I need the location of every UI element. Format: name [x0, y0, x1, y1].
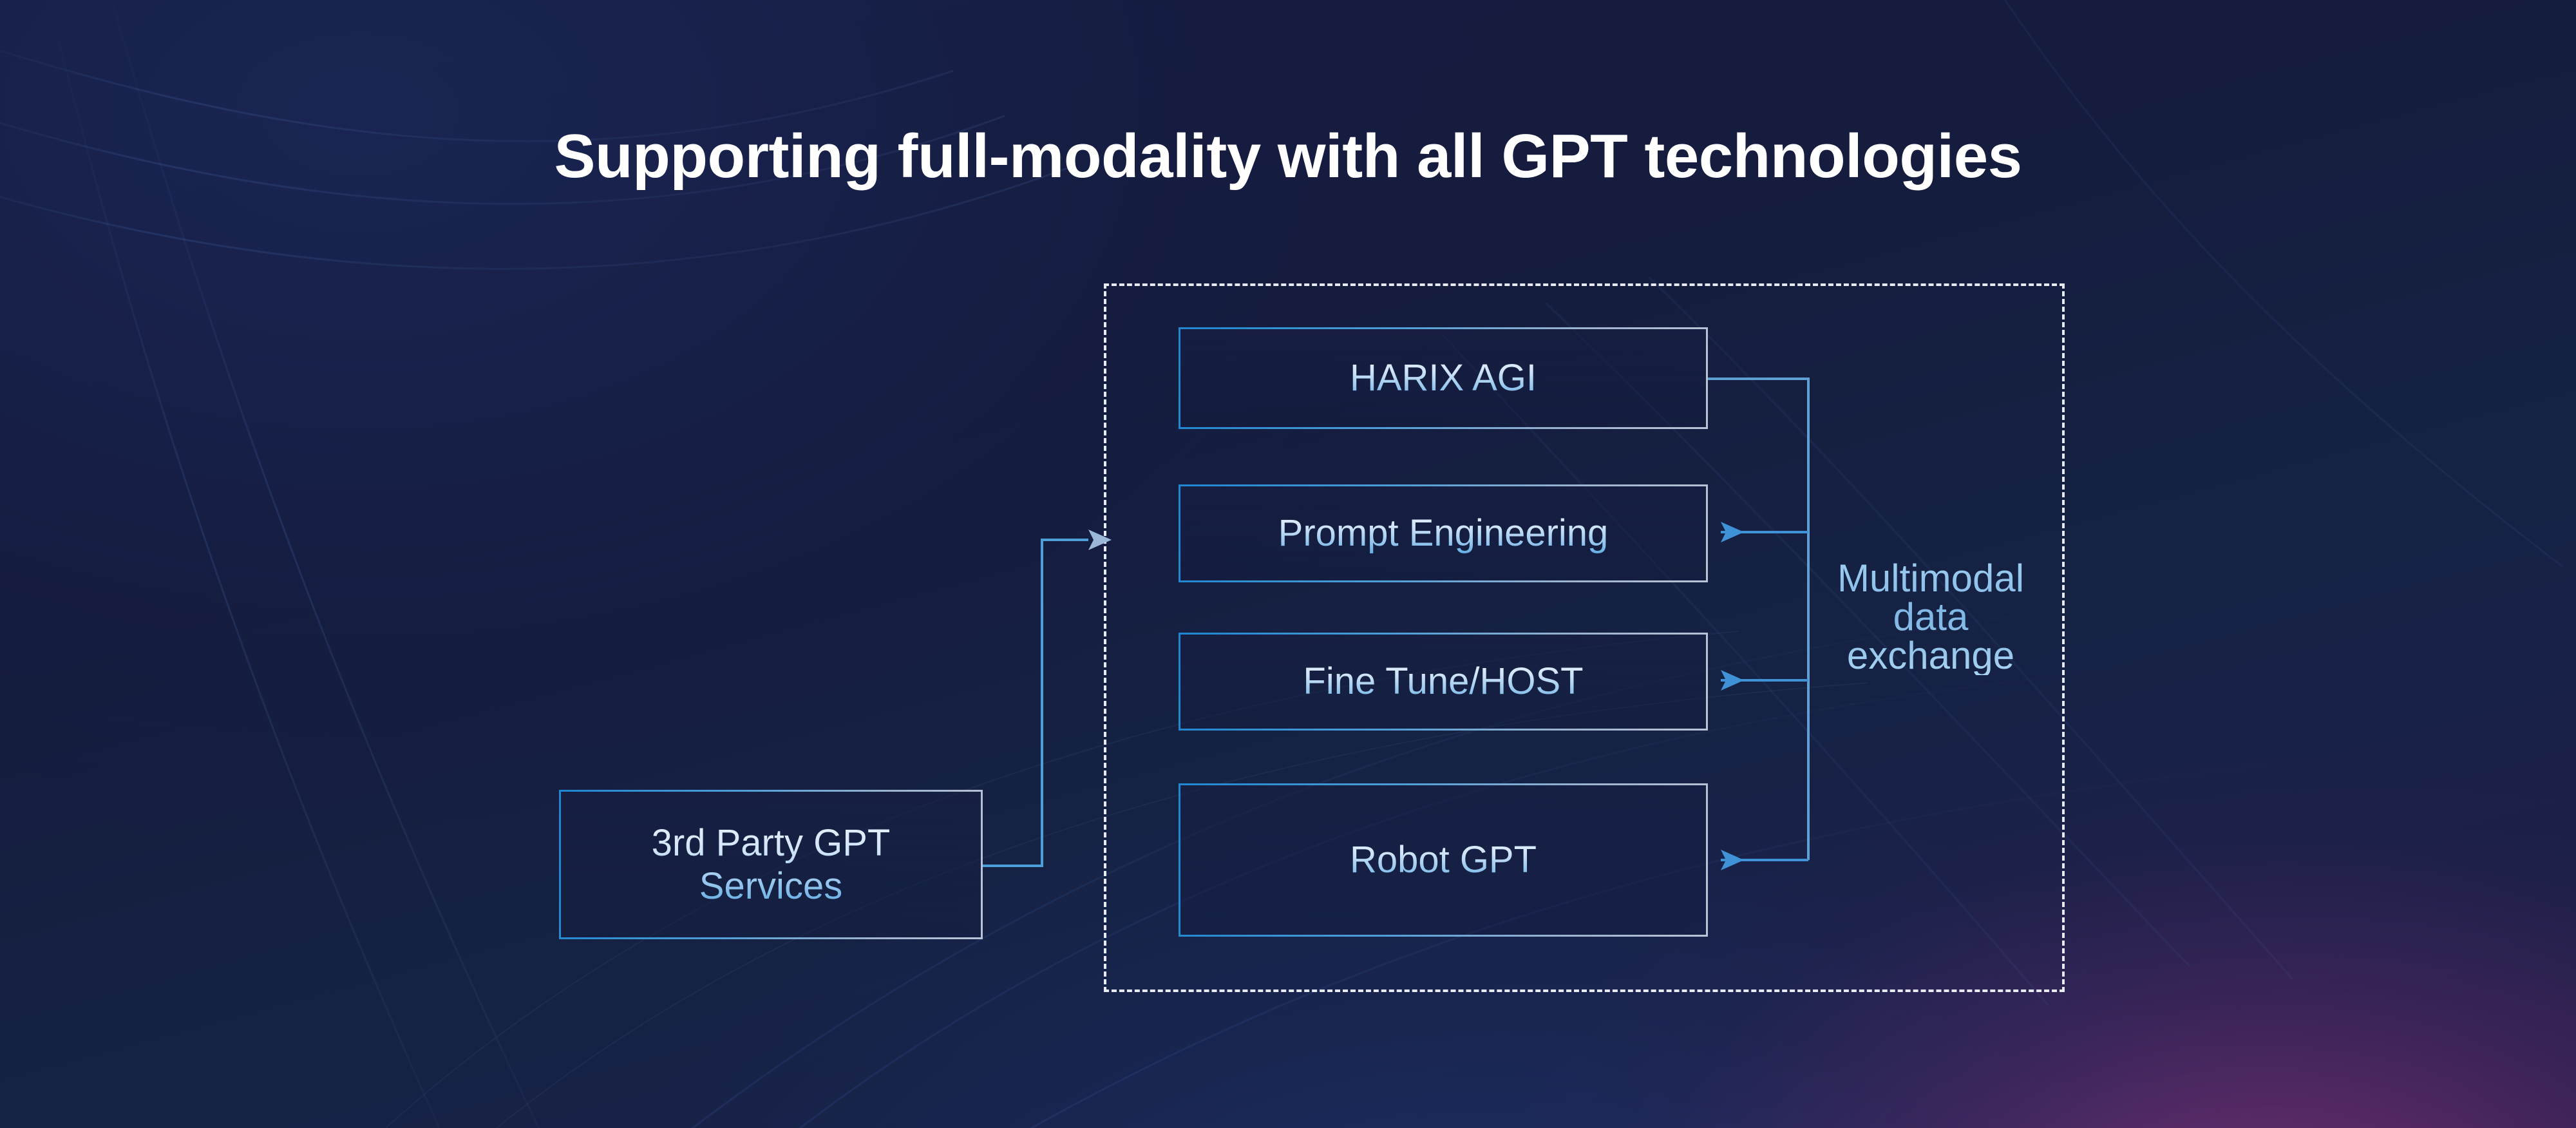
caption-line-1: Multimodal: [1815, 559, 2047, 598]
node-third-party-gpt-services[interactable]: 3rd Party GPT Services: [559, 790, 983, 939]
node-prompt-engineering[interactable]: Prompt Engineering: [1179, 484, 1708, 582]
node-harix-agi-label: HARIX AGI: [1350, 356, 1537, 399]
node-robot-gpt[interactable]: Robot GPT: [1179, 783, 1708, 937]
node-prompt-engineering-label: Prompt Engineering: [1278, 511, 1609, 555]
caption-line-3: exchange: [1815, 636, 2047, 675]
third-party-line-2: Services: [699, 865, 842, 907]
multimodal-data-exchange-caption: Multimodal data exchange: [1815, 559, 2047, 675]
node-harix-agi[interactable]: HARIX AGI: [1179, 327, 1708, 429]
third-party-line-1: 3rd Party GPT: [652, 822, 891, 864]
node-fine-tune-host[interactable]: Fine Tune/HOST: [1179, 633, 1708, 731]
node-fine-tune-host-label: Fine Tune/HOST: [1303, 660, 1583, 703]
page-title: Supporting full-modality with all GPT te…: [0, 121, 2576, 192]
node-third-party-gpt-services-label: 3rd Party GPT Services: [652, 821, 891, 908]
caption-line-2: data: [1815, 598, 2047, 636]
slide-canvas: Supporting full-modality with all GPT te…: [0, 0, 2576, 1128]
node-robot-gpt-label: Robot GPT: [1350, 838, 1537, 881]
